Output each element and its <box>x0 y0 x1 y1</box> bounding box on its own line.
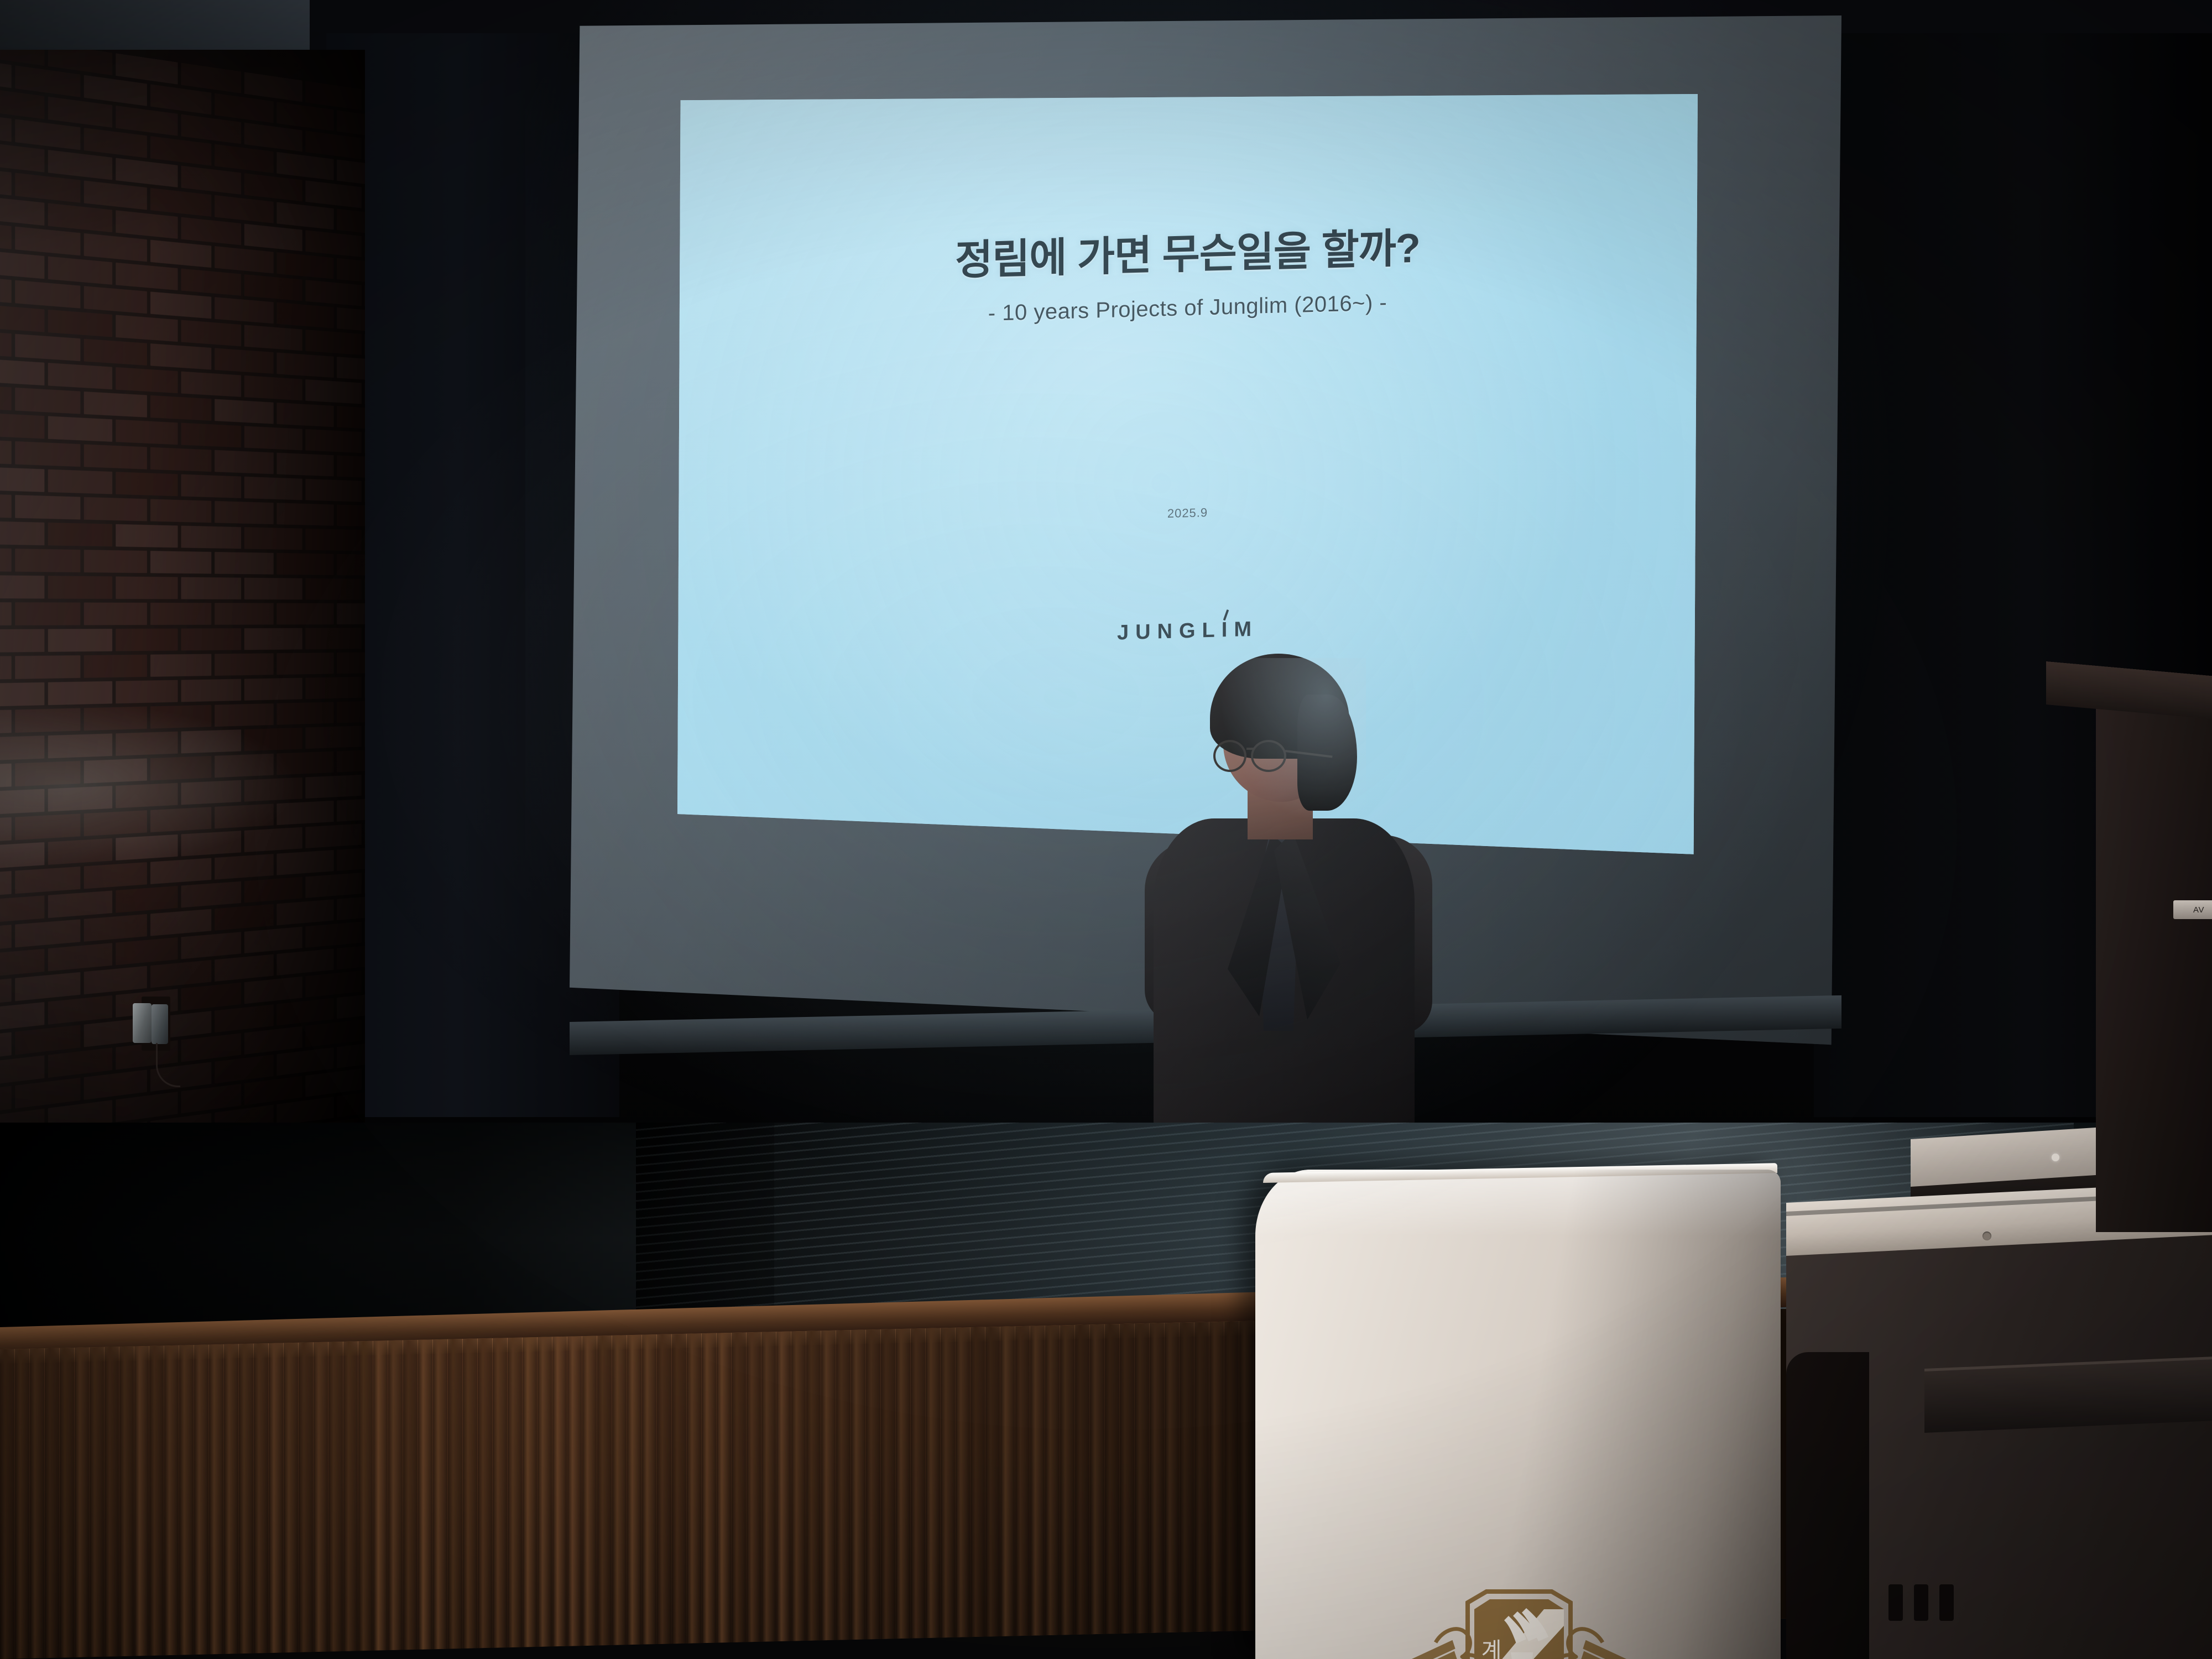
right-cabinet: AV <box>2096 690 2212 1232</box>
av-cabinet-label: AV <box>2173 900 2212 919</box>
crest-char-left: 계 <box>1481 1639 1502 1659</box>
slide-title: 정림에 가면 무슨일을 할까? <box>677 207 1698 294</box>
av-indicator-dot <box>2052 1154 2059 1161</box>
console-screw <box>1983 1232 1991 1240</box>
brick-wall <box>0 50 365 1161</box>
podium[interactable]: 계 명 KEIMYUNG UNIVERSITY <box>1255 1170 1781 1659</box>
slide-date: 2025.9 <box>677 492 1698 534</box>
keimyung-university-crest-icon: 계 명 KEIMYUNG UNIVERSITY <box>1378 1587 1660 1659</box>
console-vent-icon <box>1888 1584 1960 1623</box>
glasses-icon <box>1210 737 1332 778</box>
console-drawer[interactable] <box>1924 1356 2212 1433</box>
av-console[interactable] <box>1786 1203 2212 1659</box>
lecture-hall-scene: 정림에 가면 무슨일을 할까? - 10 years Projects of J… <box>0 0 2212 1659</box>
junglim-logo-right: M <box>1234 618 1258 641</box>
junglim-logo-left: JUNGL <box>1117 618 1222 644</box>
junglim-logo-accent: I <box>1222 618 1234 643</box>
wall-phone-icon[interactable] <box>123 995 189 1062</box>
